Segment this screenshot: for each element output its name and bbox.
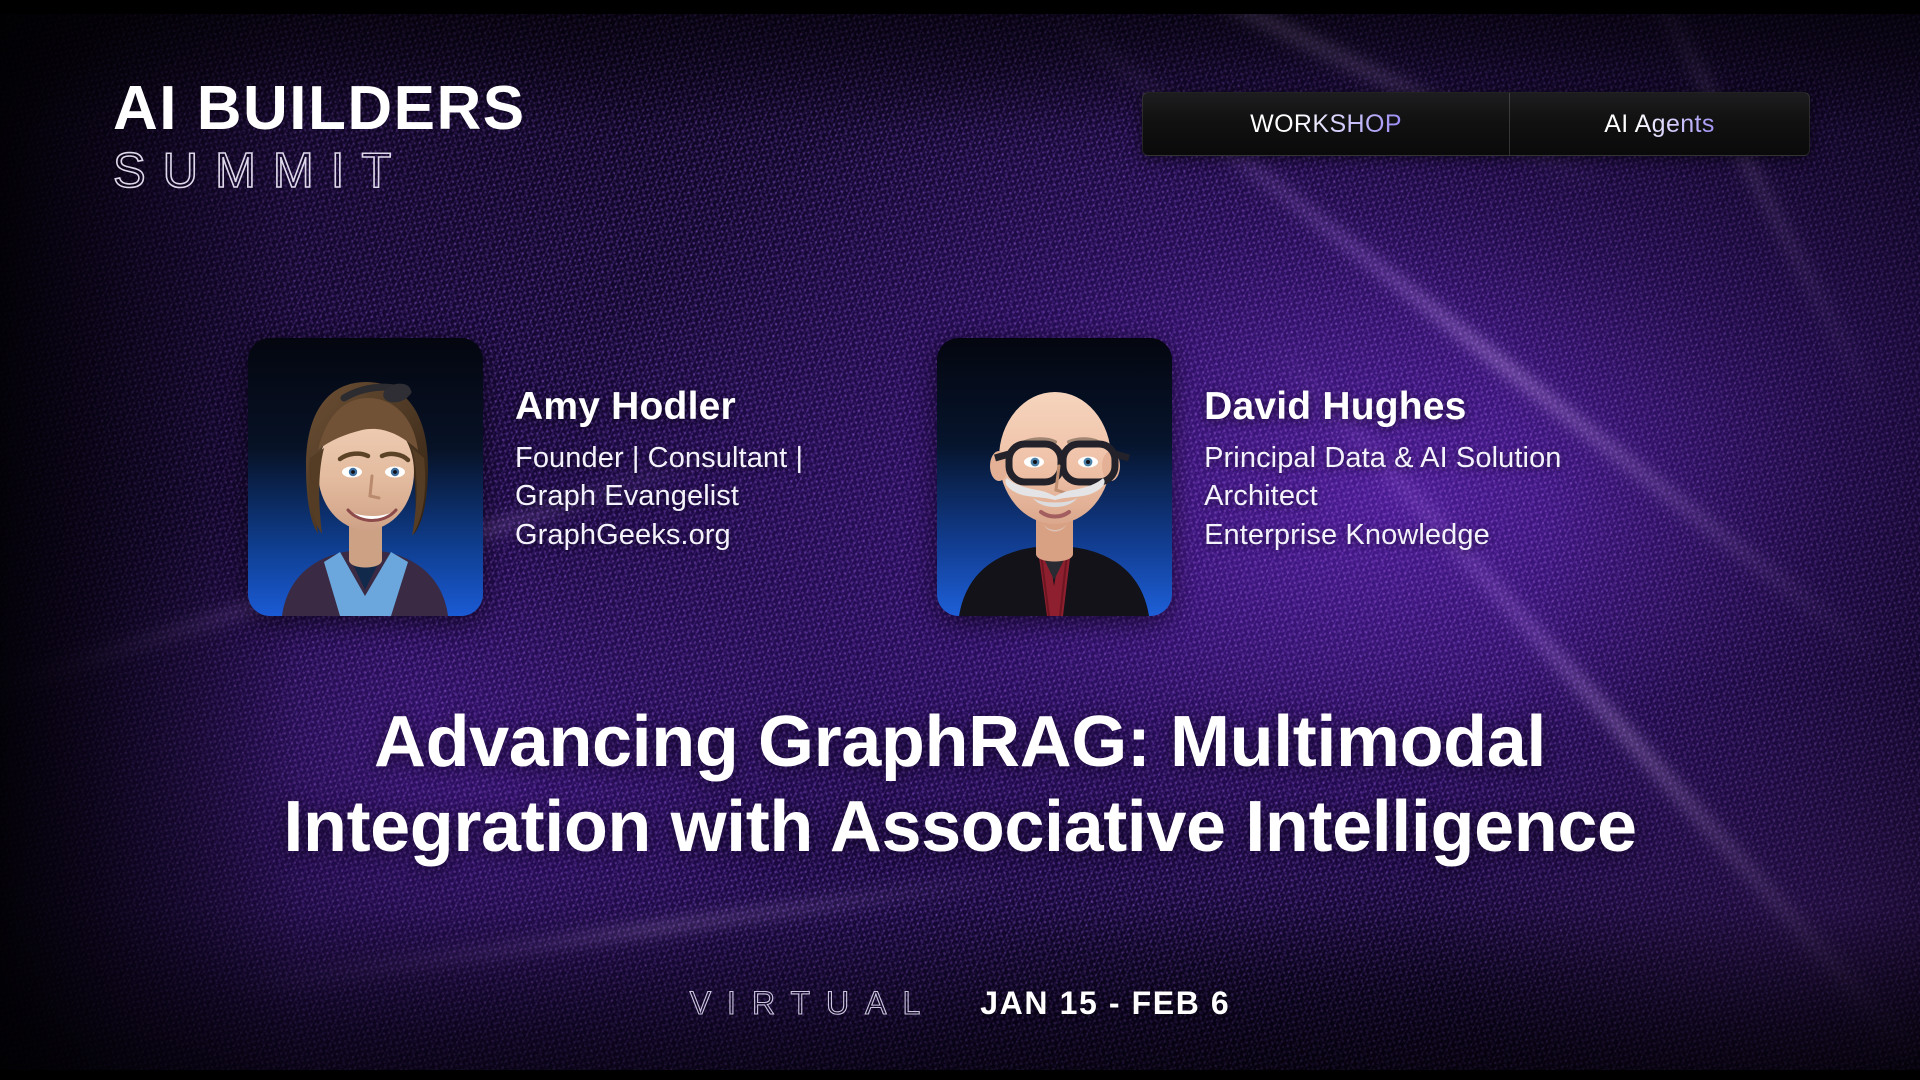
event-footer: VIRTUAL JAN 15 - FEB 6 <box>0 985 1920 1022</box>
topnav: WORKSHOP AI Agents <box>1142 92 1810 156</box>
speaker-role-line: Enterprise Knowledge <box>1204 516 1561 555</box>
speaker-role: Principal Data & AI Solution Architect E… <box>1204 439 1561 555</box>
speaker-role-line: Architect <box>1204 477 1561 516</box>
speaker-role-line: Graph Evangelist <box>515 477 803 516</box>
speaker-info: David Hughes Principal Data & AI Solutio… <box>1204 338 1561 555</box>
speaker-name: David Hughes <box>1204 386 1561 429</box>
session-title-line: Integration with Associative Intelligenc… <box>90 785 1830 870</box>
session-card: AI BUILDERS SUMMIT WORKSHOP AI Agents <box>0 0 1920 1080</box>
speaker-portrait-amy-hodler <box>248 338 483 616</box>
speaker-card: David Hughes Principal Data & AI Solutio… <box>937 338 1561 616</box>
speaker-role-line: Principal Data & AI Solution <box>1204 439 1561 478</box>
event-format-label: VIRTUAL <box>690 985 937 1022</box>
speaker-name: Amy Hodler <box>515 386 803 429</box>
speaker-card: Amy Hodler Founder | Consultant | Graph … <box>248 338 803 616</box>
brand-logo-secondary: SUMMIT <box>113 147 526 196</box>
speaker-role-line: GraphGeeks.org <box>515 516 803 555</box>
nav-tab-workshop[interactable]: WORKSHOP <box>1143 93 1509 155</box>
nav-tab-ai-agents[interactable]: AI Agents <box>1509 93 1809 155</box>
event-dates-label: JAN 15 - FEB 6 <box>980 985 1230 1022</box>
session-title: Advancing GraphRAG: Multimodal Integrati… <box>0 700 1920 870</box>
speaker-role: Founder | Consultant | Graph Evangelist … <box>515 439 803 555</box>
session-title-line: Advancing GraphRAG: Multimodal <box>90 700 1830 785</box>
speaker-list: Amy Hodler Founder | Consultant | Graph … <box>0 338 1920 616</box>
speaker-role-line: Founder | Consultant | <box>515 439 803 478</box>
speaker-portrait-david-hughes <box>937 338 1172 616</box>
letterbox-top <box>0 0 1920 14</box>
speaker-info: Amy Hodler Founder | Consultant | Graph … <box>515 338 803 555</box>
letterbox-bottom <box>0 1070 1920 1080</box>
brand-logo-primary: AI BUILDERS <box>113 78 526 140</box>
brand-logo: AI BUILDERS SUMMIT <box>113 78 526 196</box>
